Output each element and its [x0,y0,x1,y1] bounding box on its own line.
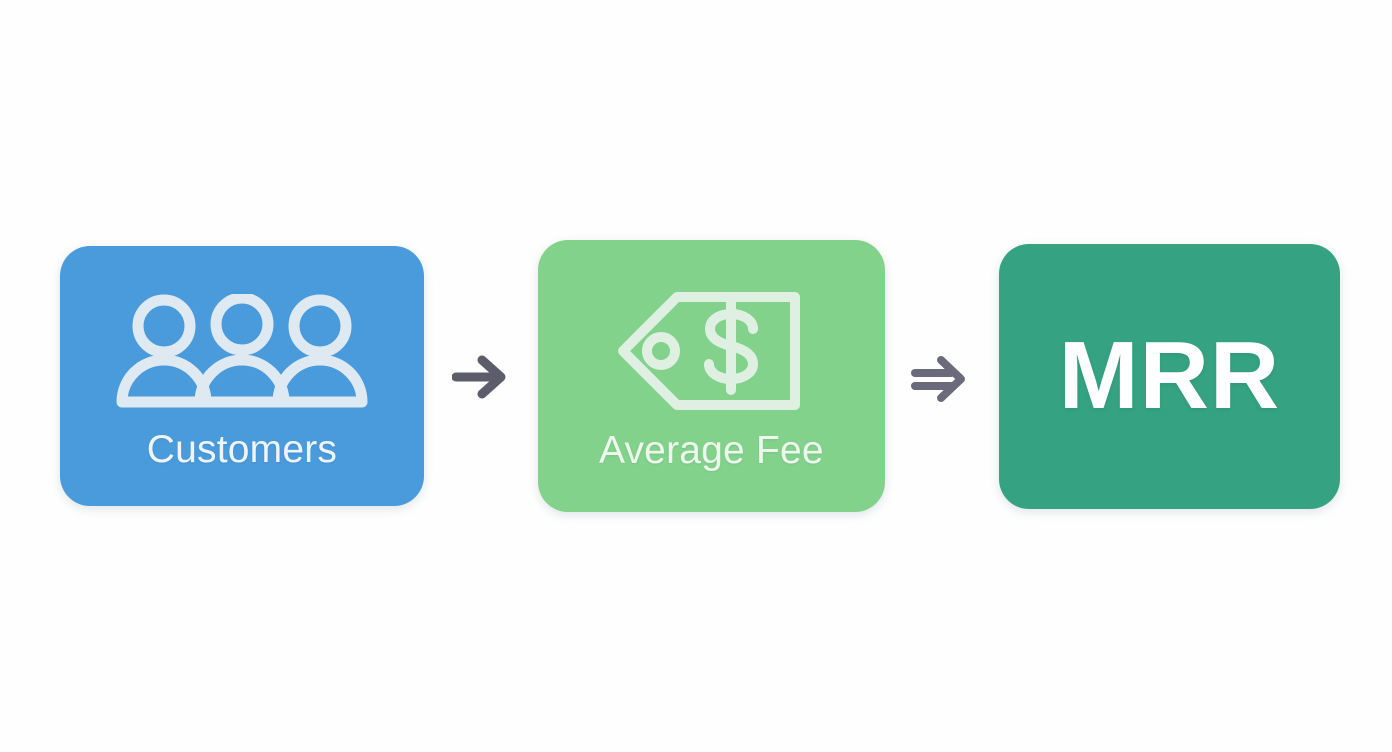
flow-row: Customers [0,0,1392,752]
step-label-mrr: MRR [1059,328,1281,424]
price-tag-dollar-icon [613,289,809,413]
step-card-mrr[interactable]: MRR [999,244,1340,509]
step-label-average-fee: Average Fee [599,429,824,473]
step-card-customers[interactable]: Customers [60,246,424,506]
step-label-customers: Customers [147,428,337,472]
arrow-right-icon-2 [899,342,983,414]
step-card-average-fee[interactable]: Average Fee [538,240,885,512]
people-group-icon [116,294,368,410]
diagram-canvas: Customers [0,0,1392,752]
arrow-right-icon [440,340,524,412]
